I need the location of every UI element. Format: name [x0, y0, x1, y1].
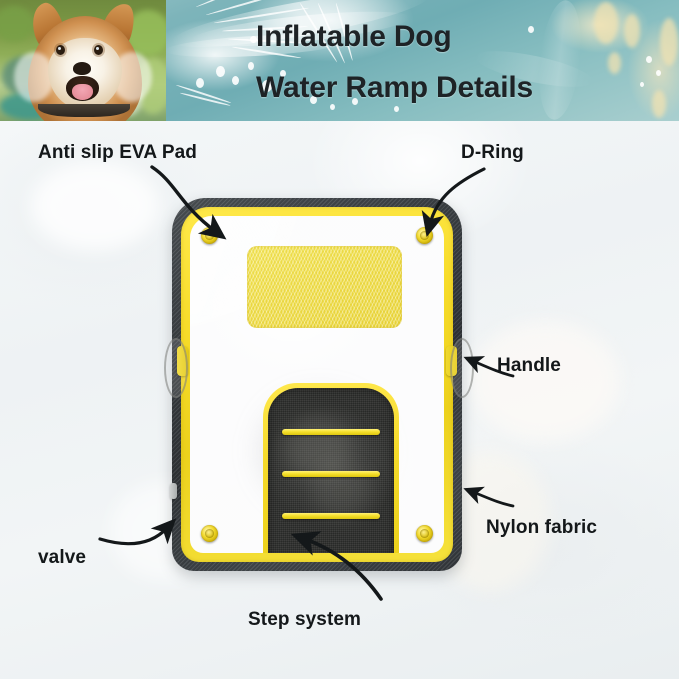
- d-ring-grommet[interactable]: [201, 525, 218, 542]
- step-system-mesh: [268, 388, 394, 553]
- label-d-ring: D-Ring: [461, 142, 524, 164]
- label-step-system: Step system: [248, 609, 361, 631]
- dog-eye-right: [94, 45, 103, 55]
- banner-title-line2: Water Ramp Details: [256, 73, 656, 104]
- yellow-step-bar: [282, 471, 380, 477]
- d-ring-grommet[interactable]: [201, 227, 218, 244]
- d-ring-grommet[interactable]: [416, 227, 433, 244]
- anti-slip-eva-pad: [247, 246, 402, 328]
- dog-mouth: [66, 76, 99, 101]
- diagram-stage: [0, 121, 679, 679]
- banner-title: Inflatable Dog Water Ramp Details: [256, 22, 656, 103]
- d-ring-grommet[interactable]: [416, 525, 433, 542]
- dog-photo: [0, 0, 166, 121]
- mist-decoration: [470, 321, 620, 441]
- banner-title-line1: Inflatable Dog: [256, 22, 656, 53]
- label-nylon-fabric: Nylon fabric: [486, 517, 597, 539]
- yellow-step-bar: [282, 513, 380, 519]
- handle-loop-left[interactable]: [164, 338, 188, 398]
- ramp-deck-surface: [190, 216, 444, 553]
- header-banner: Inflatable Dog Water Ramp Details: [0, 0, 679, 121]
- product-infographic: Inflatable Dog Water Ramp Details: [0, 0, 679, 679]
- label-anti-slip-eva-pad: Anti slip EVA Pad: [38, 142, 197, 164]
- handle-loop-right[interactable]: [450, 338, 474, 398]
- label-handle: Handle: [497, 355, 561, 377]
- label-valve: valve: [38, 547, 86, 569]
- yellow-step-bar: [282, 429, 380, 435]
- air-valve[interactable]: [170, 483, 177, 499]
- arrow-to-valve: [100, 528, 167, 544]
- dog-eye-left: [56, 45, 65, 55]
- dog-nose: [73, 62, 91, 75]
- arrow-to-nylon-fabric: [473, 492, 513, 506]
- inflatable-ramp[interactable]: [172, 198, 462, 571]
- mist-decoration: [30, 161, 160, 251]
- dog-tongue: [72, 84, 93, 100]
